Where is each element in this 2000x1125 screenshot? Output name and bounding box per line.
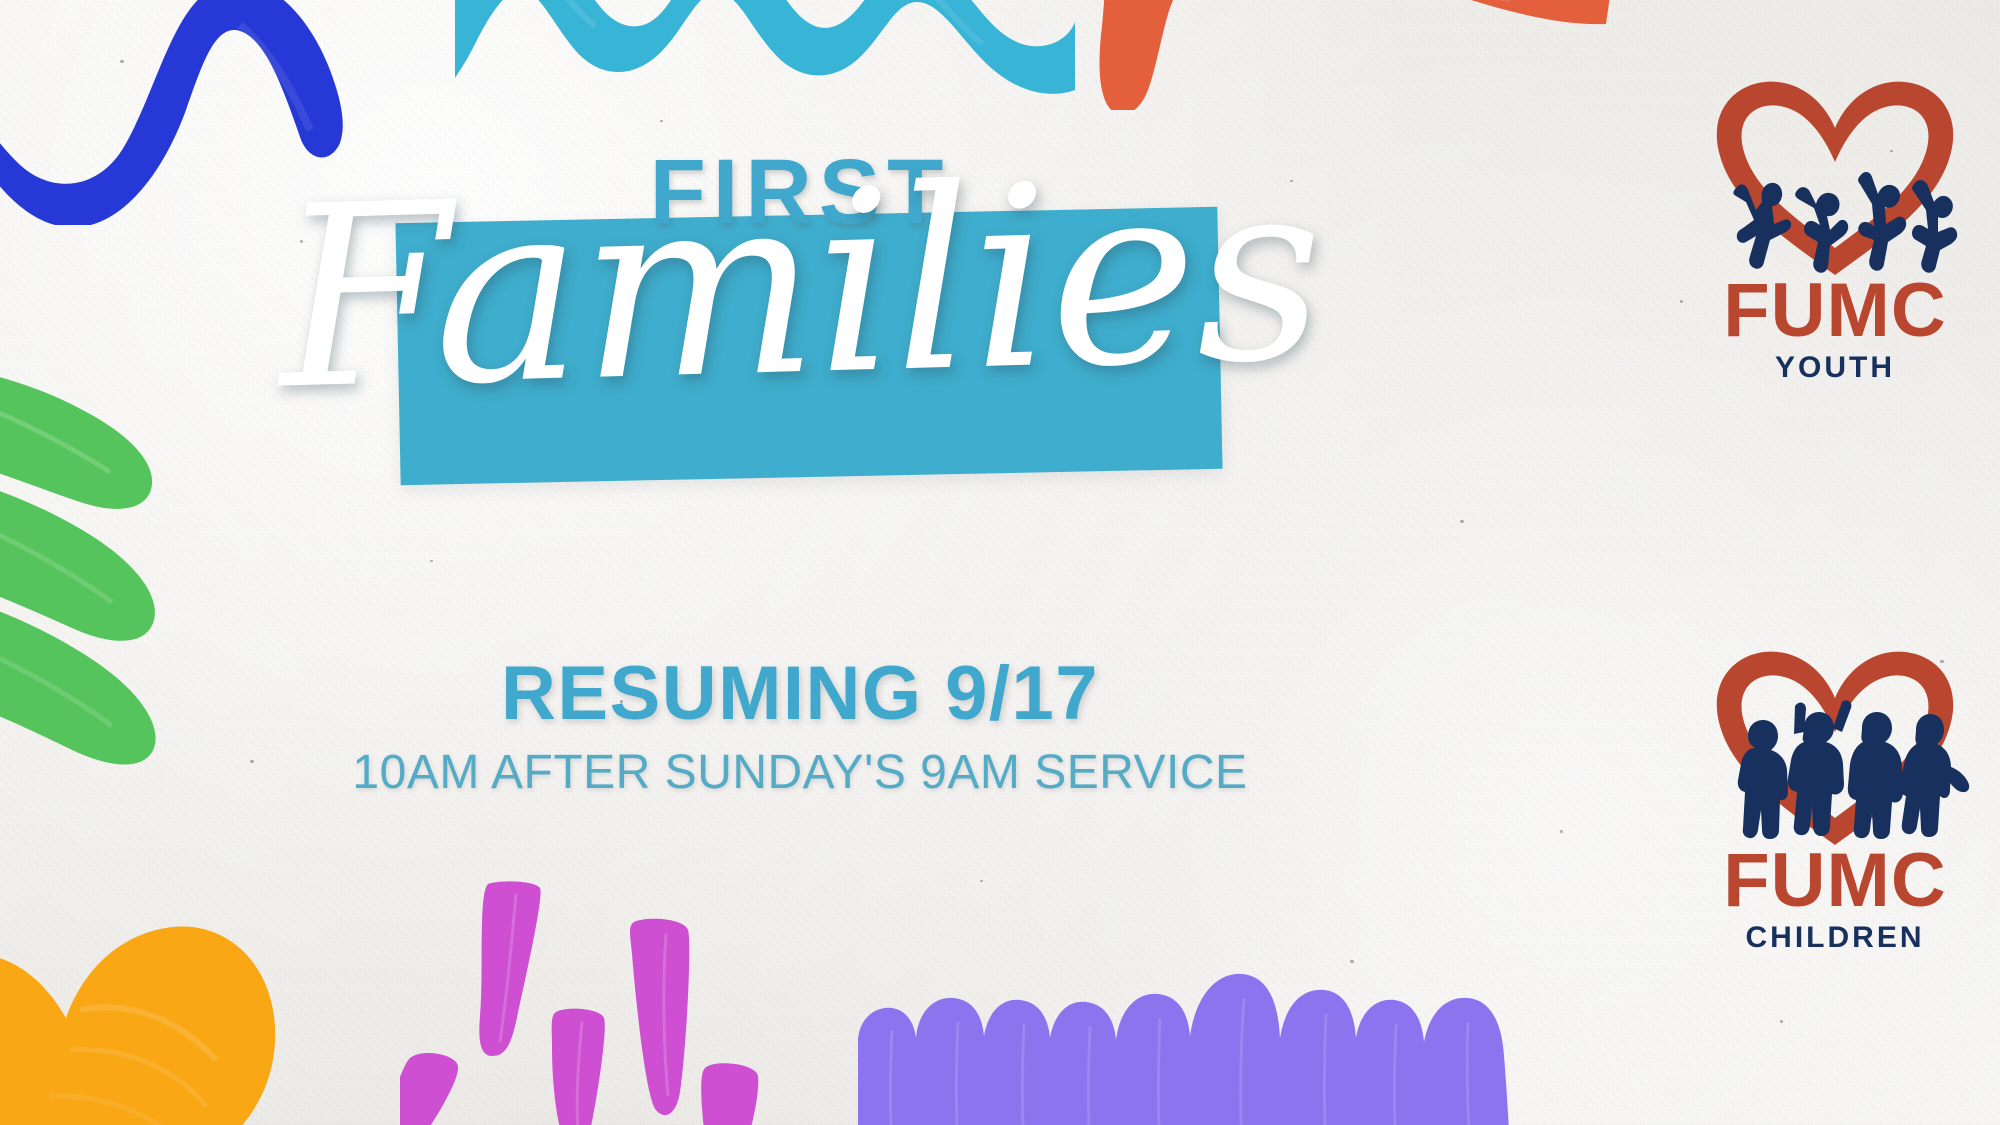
logo-fumc-wordmark: FUMC: [1700, 847, 1970, 915]
resuming-date-text: RESUMING 9/17: [0, 650, 1600, 737]
heart-with-jumping-teens-icon: [1700, 70, 1970, 285]
fumc-children-logo: FUMC CHILDREN: [1700, 640, 1970, 955]
service-time-text: 10AM AFTER SUNDAY'S 9AM SERVICE: [0, 745, 1600, 800]
logo-ministry-label: CHILDREN: [1700, 921, 1970, 955]
logo-ministry-label: YOUTH: [1700, 351, 1970, 385]
headline-script-families: Families: [0, 138, 1603, 433]
headline-block: FIRST Families RESUMING 9/17 10AM AFTER …: [0, 0, 1600, 1125]
poster-canvas: FIRST Families RESUMING 9/17 10AM AFTER …: [0, 0, 2000, 1125]
heart-with-children-icon: [1700, 640, 1970, 855]
logo-fumc-wordmark: FUMC: [1700, 277, 1970, 345]
fumc-youth-logo: FUMC YOUTH: [1700, 70, 1970, 385]
